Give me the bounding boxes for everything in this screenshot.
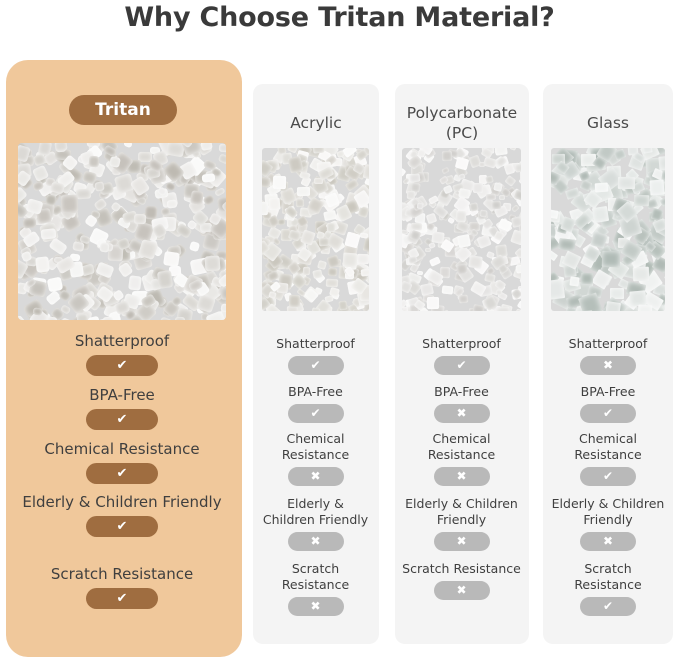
status-badge-cross: ✖ — [434, 581, 490, 600]
status-badge-check: ✔ — [86, 463, 158, 484]
status-badge-cross: ✖ — [288, 532, 344, 551]
feature-label: Elderly & Children Friendly — [400, 496, 523, 528]
status-badge-check: ✔ — [580, 404, 636, 423]
feature-polycarbonate-chemical-resistance: Chemical Resistance ✖ — [400, 431, 523, 486]
feature-glass-elderly-children-friendly: Elderly & Children Friendly ✖ — [549, 496, 667, 551]
status-badge-check: ✔ — [288, 356, 344, 375]
feature-label: Shatterproof — [18, 332, 226, 351]
feature-glass-chemical-resistance: Chemical Resistance ✔ — [549, 431, 667, 486]
status-badge-check: ✔ — [434, 356, 490, 375]
feature-label: BPA-Free — [549, 384, 667, 400]
feature-polycarbonate-scratch-resistance: Scratch Resistance ✖ — [400, 561, 523, 600]
comparison-infographic: Why Choose Tritan Material? Tritan Acryl… — [0, 0, 679, 668]
feature-label: Chemical Resistance — [549, 431, 667, 463]
feature-glass-shatterproof: Shatterproof ✖ — [549, 336, 667, 375]
feature-tritan-shatterproof: Shatterproof ✔ — [18, 332, 226, 376]
status-badge-check: ✔ — [86, 516, 158, 537]
status-badge-cross: ✖ — [580, 532, 636, 551]
feature-label: Scratch Resistance — [18, 565, 226, 584]
header-acrylic: Acrylic — [253, 113, 379, 133]
feature-label: Shatterproof — [400, 336, 523, 352]
feature-acrylic-scratch-resistance: Scratch Resistance ✖ — [262, 561, 369, 616]
status-badge-check: ✔ — [86, 355, 158, 376]
feature-label: Scratch Resistance — [400, 561, 523, 577]
status-badge-cross: ✖ — [288, 597, 344, 616]
feature-tritan-scratch-resistance: Scratch Resistance ✔ — [18, 565, 226, 609]
glass-cullet-photo — [551, 148, 665, 311]
tritan-pellets-photo — [18, 143, 226, 320]
feature-label: Scratch Resistance — [262, 561, 369, 593]
feature-acrylic-bpa-free: BPA-Free ✔ — [262, 384, 369, 423]
header-tritan: Tritan — [69, 95, 177, 125]
feature-label: Shatterproof — [549, 336, 667, 352]
feature-acrylic-shatterproof: Shatterproof ✔ — [262, 336, 369, 375]
status-badge-check: ✔ — [86, 588, 158, 609]
header-glass: Glass — [543, 113, 673, 133]
feature-tritan-bpa-free: BPA-Free ✔ — [18, 386, 226, 430]
feature-tritan-elderly-children-friendly: Elderly & Children Friendly ✔ — [18, 493, 226, 537]
feature-glass-scratch-resistance: Scratch Resistance ✔ — [549, 561, 667, 616]
feature-acrylic-chemical-resistance: Chemical Resistance ✖ — [262, 431, 369, 486]
feature-polycarbonate-bpa-free: BPA-Free ✖ — [400, 384, 523, 423]
feature-label: Scratch Resistance — [549, 561, 667, 593]
feature-polycarbonate-shatterproof: Shatterproof ✔ — [400, 336, 523, 375]
feature-acrylic-elderly-children-friendly: Elderly & Children Friendly ✖ — [262, 496, 369, 551]
status-badge-cross: ✖ — [580, 356, 636, 375]
feature-label: Elderly & Children Friendly — [262, 496, 369, 528]
feature-label: BPA-Free — [262, 384, 369, 400]
feature-label: Chemical Resistance — [18, 440, 226, 459]
status-badge-check: ✔ — [580, 467, 636, 486]
feature-label: Shatterproof — [262, 336, 369, 352]
status-badge-cross: ✖ — [434, 532, 490, 551]
status-badge-cross: ✖ — [434, 467, 490, 486]
status-badge-cross: ✖ — [434, 404, 490, 423]
feature-label: Elderly & Children Friendly — [549, 496, 667, 528]
status-badge-check: ✔ — [86, 409, 158, 430]
feature-polycarbonate-elderly-children-friendly: Elderly & Children Friendly ✖ — [400, 496, 523, 551]
feature-label: Elderly & Children Friendly — [18, 493, 226, 512]
polycarbonate-pellets-photo — [402, 148, 521, 311]
status-badge-check: ✔ — [580, 597, 636, 616]
page-title: Why Choose Tritan Material? — [0, 2, 679, 33]
status-badge-cross: ✖ — [288, 467, 344, 486]
header-polycarbonate: Polycarbonate (PC) — [393, 103, 531, 143]
feature-label: Chemical Resistance — [400, 431, 523, 463]
feature-glass-bpa-free: BPA-Free ✔ — [549, 384, 667, 423]
status-badge-check: ✔ — [288, 404, 344, 423]
feature-tritan-chemical-resistance: Chemical Resistance ✔ — [18, 440, 226, 484]
feature-label: Chemical Resistance — [262, 431, 369, 463]
feature-label: BPA-Free — [400, 384, 523, 400]
acrylic-pellets-photo — [262, 148, 369, 311]
feature-label: BPA-Free — [18, 386, 226, 405]
